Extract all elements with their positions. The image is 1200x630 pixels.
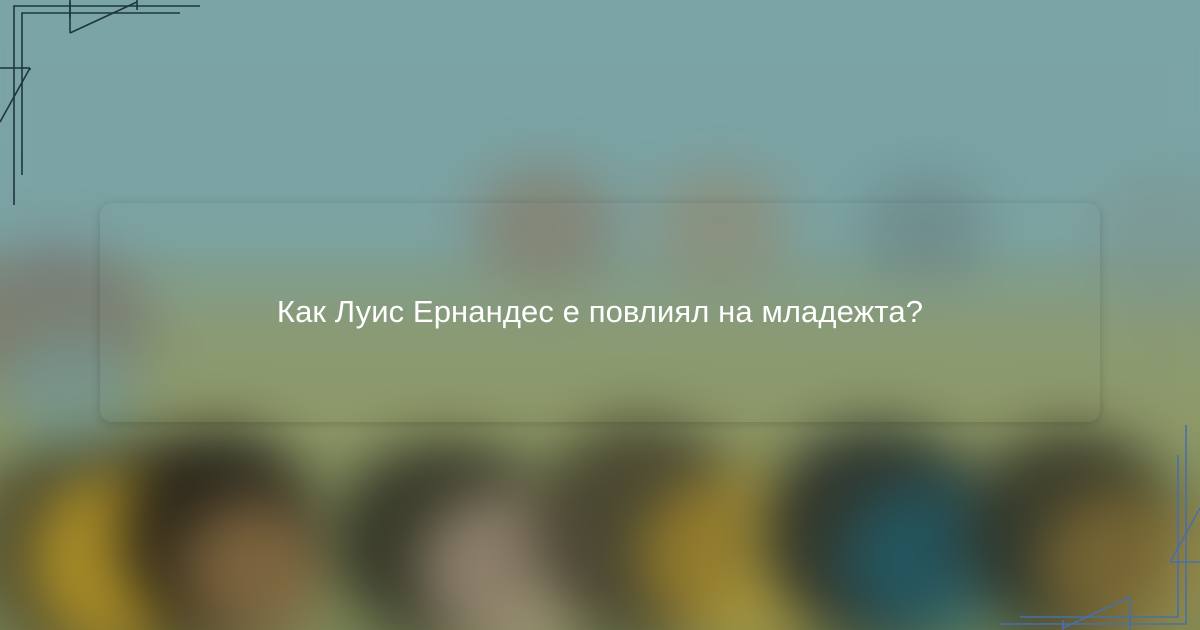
page-title: Как Луис Ернандес е повлиял на младежта?	[237, 292, 963, 332]
share-card: Как Луис Ернандес е повлиял на младежта?	[0, 0, 1200, 630]
title-banner: Как Луис Ернандес е повлиял на младежта?	[100, 203, 1100, 422]
